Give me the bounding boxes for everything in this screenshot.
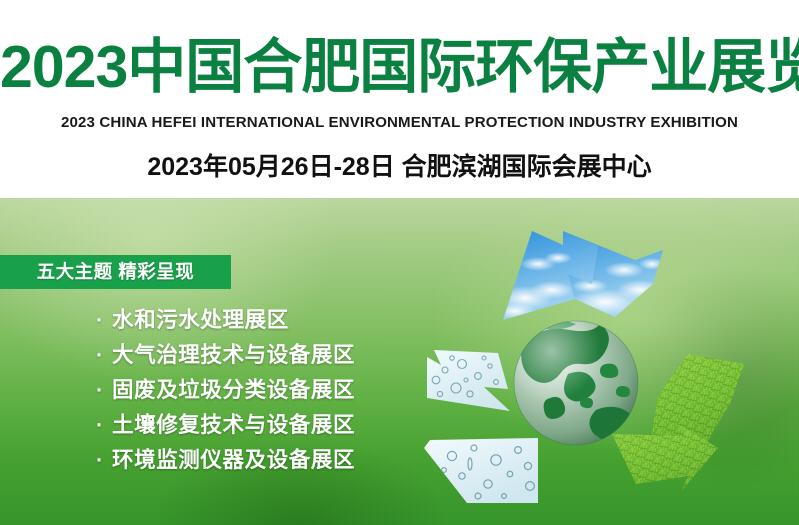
earth-globe-icon <box>514 320 638 445</box>
list-item-label: 水和污水处理展区 <box>112 303 289 338</box>
theme-badge: 五大主题 精彩呈现 <box>0 255 231 289</box>
list-item-label: 环境监测仪器及设备展区 <box>112 443 355 478</box>
poster-body: 五大主题 精彩呈现 · 水和污水处理展区 · 大气治理技术与设备展区 · 固废及… <box>0 198 799 525</box>
page-title: 2023中国合肥国际环保产业展览会 <box>0 32 799 102</box>
poster-header: 2023中国合肥国际环保产业展览会 2023 CHINA HEFEI INTER… <box>0 0 799 198</box>
sky-arrow-icon <box>495 231 665 320</box>
theme-badge-label: 五大主题 精彩呈现 <box>37 261 195 283</box>
date-and-venue: 2023年05月26日-28日 合肥滨湖国际会展中心 <box>0 150 799 184</box>
bullet-icon: · <box>96 443 112 478</box>
list-item: · 大气治理技术与设备展区 <box>96 338 416 373</box>
bullet-icon: · <box>96 373 112 408</box>
list-item: · 水和污水处理展区 <box>96 303 416 338</box>
list-item: · 土壤修复技术与设备展区 <box>96 408 416 443</box>
page-subtitle-english: 2023 CHINA HEFEI INTERNATIONAL ENVIRONME… <box>4 113 795 133</box>
recycling-symbol-graphic <box>400 198 799 525</box>
list-item-label: 固废及垃圾分类设备展区 <box>112 373 355 408</box>
list-item: · 固废及垃圾分类设备展区 <box>96 373 416 408</box>
list-item-label: 大气治理技术与设备展区 <box>112 338 355 373</box>
list-item: · 环境监测仪器及设备展区 <box>96 443 416 478</box>
bullet-icon: · <box>96 408 112 443</box>
list-item-label: 土壤修复技术与设备展区 <box>112 408 355 443</box>
exhibition-zone-list: · 水和污水处理展区 · 大气治理技术与设备展区 · 固废及垃圾分类设备展区 ·… <box>96 303 416 478</box>
bullet-icon: · <box>96 338 112 373</box>
bullet-icon: · <box>96 303 112 338</box>
exhibition-poster: 2023中国合肥国际环保产业展览会 2023 CHINA HEFEI INTER… <box>0 0 799 525</box>
